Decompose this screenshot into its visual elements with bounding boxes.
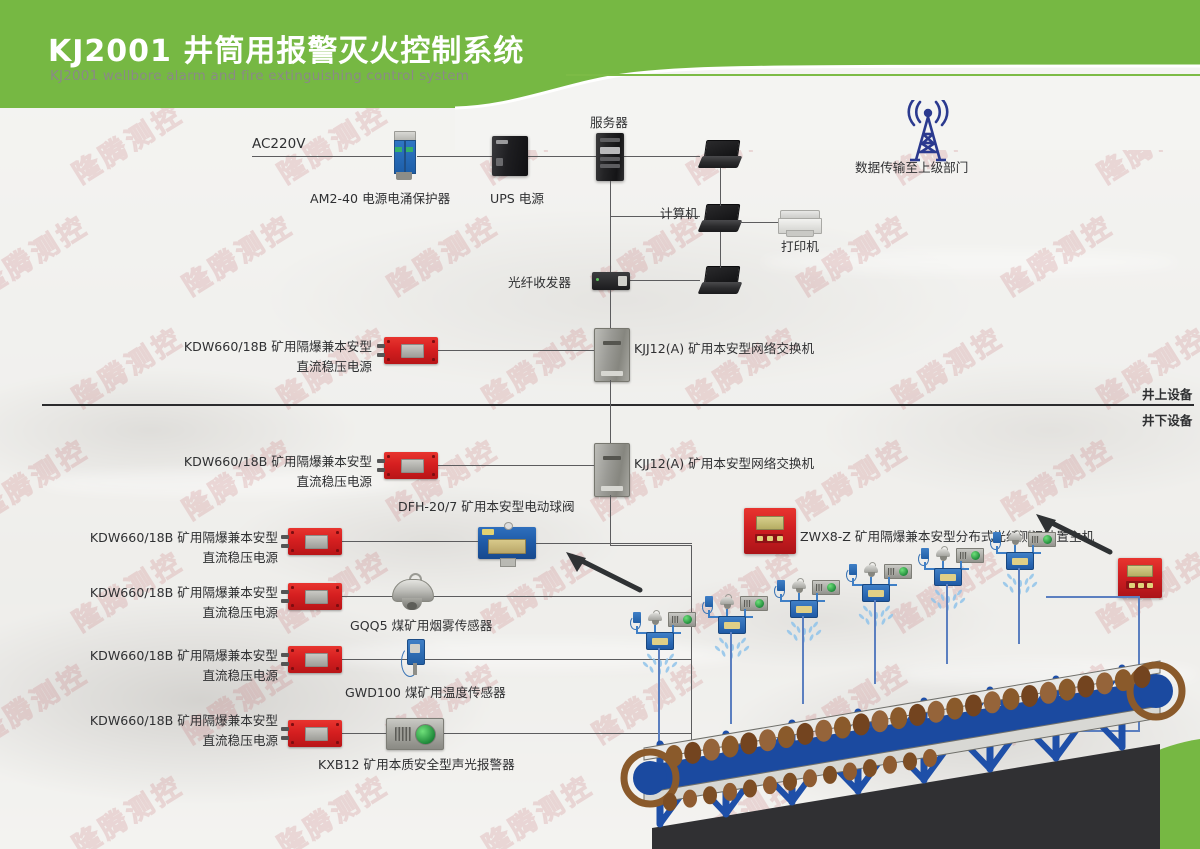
coal-lump-return (903, 752, 917, 770)
coal-lump (1134, 666, 1151, 688)
underground-power-link-1 (438, 465, 594, 466)
ac-bus-to-laptop-1 (624, 156, 700, 157)
underground-switch-label: KJJ12(A) 矿用本安型网络交换机 (634, 455, 814, 472)
coal-lump-return (803, 769, 817, 787)
temp-sensor-link (342, 659, 592, 660)
underground-power-supply-label-2b: 直流稳压电源 (0, 549, 278, 566)
ac-bus-segment-2 (417, 156, 492, 157)
coal-lump (965, 694, 982, 716)
ups-label: UPS 电源 (490, 190, 544, 207)
printer-device (778, 210, 820, 236)
coal-lump (1115, 669, 1132, 691)
underground-power-supply-label-4b: 直流稳压电源 (0, 667, 278, 684)
computer-laptop-3 (700, 266, 740, 296)
underground-power-supply-label-5b: 直流稳压电源 (0, 732, 278, 749)
coal-lump (871, 710, 888, 732)
coal-lump-return (923, 749, 937, 767)
coal-lump (1002, 688, 1019, 710)
audible-alarm-label: KXB12 矿用本质安全型声光报警器 (318, 756, 515, 773)
water-droplet (1012, 578, 1017, 586)
underground-power-supply-label-4a: KDW660/18B 矿用隔爆兼本安型 (0, 647, 278, 664)
coal-lump (703, 739, 720, 761)
alarm-link-left (342, 733, 386, 734)
laptop-link-2-3 (720, 232, 721, 268)
coal-lump-return (763, 776, 777, 794)
fiber-transceiver-label: 光纤收发器 (508, 274, 571, 291)
switch-trunk-crossing (610, 380, 611, 450)
electric-ball-valve-device (478, 527, 536, 559)
water-droplet (1028, 573, 1035, 580)
smoke-sensor-device (390, 573, 434, 613)
sprinkler-cluster (916, 544, 990, 604)
valve-to-bus (536, 543, 692, 544)
underground-switch-down-trunk (610, 495, 611, 545)
coal-lump (984, 691, 1001, 713)
coal-lump (684, 742, 701, 764)
coal-lump-return (723, 783, 737, 801)
coal-lump (722, 736, 739, 758)
surge-protector-label: AM2-40 电源电涌保护器 (310, 190, 450, 207)
header-accent-line (566, 74, 1200, 76)
server-trunk-vertical (610, 181, 611, 280)
underground-power-supply-label-3b: 直流稳压电源 (0, 604, 278, 621)
printer-link (740, 222, 782, 223)
surface-power-supply-label-1: KDW660/18B 矿用隔爆兼本安型 (0, 338, 372, 355)
ac-bus-segment-1 (252, 156, 392, 157)
fiber-to-switch-link (610, 290, 611, 328)
cluster-smoke-sensor-icon (935, 546, 951, 562)
computer-laptop-1 (700, 140, 740, 170)
cluster-temp-sensor-icon (774, 580, 787, 595)
page-title: KJ2001 井筒用报警灭火控制系统 (48, 26, 524, 70)
coal-lump-return (883, 756, 897, 774)
server-label: 服务器 (590, 114, 628, 131)
ac220v-label: AC220V (252, 136, 305, 153)
temperature-sensor-device (400, 637, 430, 681)
coal-lump (890, 707, 907, 729)
underground-power-supply-device-3 (288, 583, 342, 610)
underground-power-supply-device-5 (288, 720, 342, 747)
computer-laptop-2 (700, 204, 740, 234)
audible-visual-alarm-device (386, 718, 444, 750)
coal-lump (815, 720, 832, 742)
cluster-temp-sensor-icon (990, 532, 1003, 547)
laptop-link-1-2 (720, 168, 721, 206)
coal-lump-return (843, 763, 857, 781)
surge-protector-device (392, 131, 416, 181)
coal-lump (666, 745, 683, 767)
cluster-smoke-sensor-icon (791, 578, 807, 594)
surface-power-link (438, 350, 594, 351)
coal-lump (778, 726, 795, 748)
coal-lump-return (863, 759, 877, 777)
surface-network-switch (594, 328, 630, 382)
valve-bus-top (610, 545, 692, 546)
coal-lump (1021, 685, 1038, 707)
underground-power-supply-label-2a: KDW660/18B 矿用隔爆兼本安型 (0, 529, 278, 546)
coal-lump (1077, 675, 1094, 697)
temp-sensor-label: GWD100 煤矿用温度传感器 (345, 684, 506, 701)
fiber-transceiver-device (592, 272, 630, 290)
coal-lump (797, 723, 814, 745)
coal-lump (928, 701, 945, 723)
coal-lump (1059, 679, 1076, 701)
annotation-arrow-left (560, 548, 644, 599)
underground-network-switch (594, 443, 630, 497)
coal-lump-return (823, 766, 837, 784)
surface-power-supply-label-2: 直流稳压电源 (0, 358, 372, 375)
surface-power-supply-device (384, 337, 438, 364)
cluster-smoke-sensor-icon (863, 562, 879, 578)
surface-underground-divider (42, 404, 1194, 406)
underground-power-supply-label-1b: 直流稳压电源 (0, 473, 372, 490)
bg-streak (760, 250, 1180, 274)
coal-lump-return (783, 773, 797, 791)
underground-power-supply-device-4 (288, 646, 342, 673)
coal-lump (1096, 672, 1113, 694)
cluster-smoke-sensor-icon (1007, 530, 1023, 546)
diagram-canvas: 隆腾测控隆腾测控隆腾测控隆腾测控隆腾测控隆腾测控隆腾测控隆腾测控隆腾测控隆腾测控… (0, 0, 1200, 849)
conveyor-belt-illustration (604, 596, 1200, 849)
above-ground-label: 井上设备 (1142, 386, 1192, 403)
coal-lump (834, 717, 851, 739)
page-subtitle: KJ2001 wellbore alarm and fire extinguis… (50, 68, 469, 84)
coal-lump (740, 732, 757, 754)
coal-lump-return (703, 786, 717, 804)
ac-bus-segment-3 (528, 156, 596, 157)
underground-label: 井下设备 (1142, 412, 1192, 429)
ups-device (492, 136, 528, 176)
coal-lump-return (683, 790, 697, 808)
coal-lump-return (743, 779, 757, 797)
cluster-temp-sensor-icon (846, 564, 859, 579)
underground-power-supply-label-1a: KDW660/18B 矿用隔爆兼本安型 (0, 453, 372, 470)
coal-lump (909, 704, 926, 726)
antenna-tower-icon (898, 100, 958, 162)
uplink-label: 数据传输至上级部门 (855, 159, 968, 176)
coal-lump (1040, 682, 1057, 704)
underground-power-supply-device-2 (288, 528, 342, 555)
underground-power-supply-device-1 (384, 452, 438, 479)
valve-label: DFH-20/7 矿用本安型电动球阀 (398, 498, 575, 515)
coal-lump (853, 713, 870, 735)
sprinkler-cluster (988, 528, 1062, 588)
printer-label: 打印机 (781, 238, 819, 255)
server-device (596, 133, 624, 181)
coal-lump (946, 698, 963, 720)
cluster-junction-box (1006, 552, 1034, 570)
smoke-sensor-link (342, 596, 592, 597)
computer-label: 计算机 (660, 205, 698, 222)
underground-power-supply-label-5a: KDW660/18B 矿用隔爆兼本安型 (0, 712, 278, 729)
cluster-temp-sensor-icon (918, 548, 931, 563)
underground-power-link-2 (342, 541, 478, 542)
coal-lump (759, 729, 776, 751)
surface-switch-label: KJJ12(A) 矿用本安型网络交换机 (634, 340, 814, 357)
water-droplet (1031, 581, 1038, 588)
underground-power-supply-label-3a: KDW660/18B 矿用隔爆兼本安型 (0, 584, 278, 601)
fiber-temp-host-device (744, 508, 796, 554)
water-droplet (1002, 581, 1009, 588)
cluster-junction-box (934, 568, 962, 586)
smoke-sensor-label: GQQ5 煤矿用烟雾传感器 (350, 617, 492, 634)
coal-lump-return (663, 793, 677, 811)
